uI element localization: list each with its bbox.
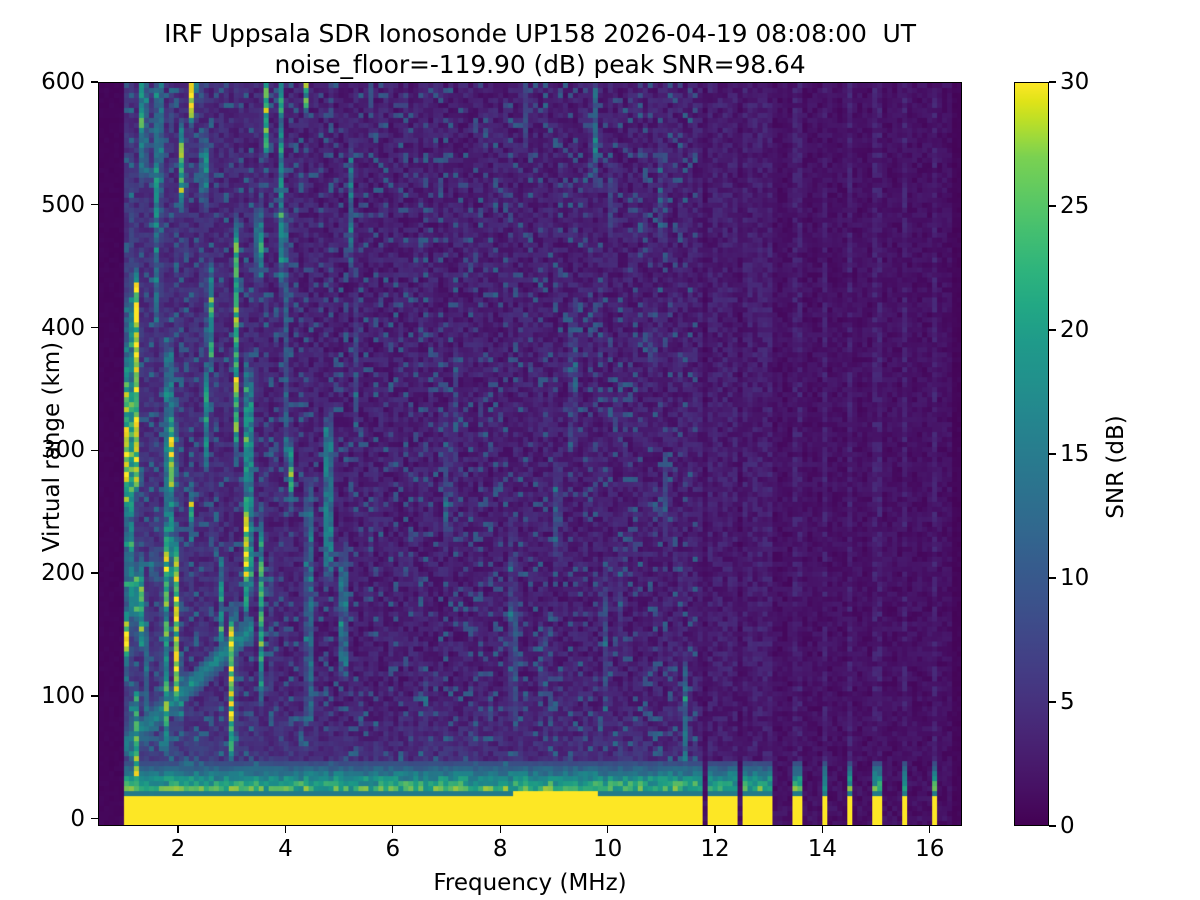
colorbar-tick-mark <box>1049 577 1056 578</box>
y-tick-label: 300 <box>41 437 85 463</box>
x-tick-label: 4 <box>278 836 293 862</box>
y-tick-mark <box>91 204 98 205</box>
colorbar-viridis <box>1014 82 1049 826</box>
colorbar-tick-label: 30 <box>1060 69 1089 95</box>
colorbar-tick-label: 20 <box>1060 317 1089 343</box>
colorbar-tick-label: 0 <box>1060 813 1075 839</box>
title-line-1: IRF Uppsala SDR Ionosonde UP158 2026-04-… <box>0 18 1080 49</box>
ionogram-heatmap <box>99 83 961 825</box>
title-line-2: noise_floor=-119.90 (dB) peak SNR=98.64 <box>0 49 1080 80</box>
x-tick-mark <box>500 826 501 833</box>
colorbar-tick-label: 25 <box>1060 193 1089 219</box>
y-tick-label: 500 <box>41 192 85 218</box>
x-tick-mark <box>929 826 930 833</box>
colorbar-tick-label: 5 <box>1060 689 1075 715</box>
colorbar-tick-mark <box>1049 825 1056 826</box>
colorbar-tick-mark <box>1049 329 1056 330</box>
ionogram-plot-area[interactable] <box>98 82 962 826</box>
x-tick-mark <box>285 826 286 833</box>
x-tick-mark <box>822 826 823 833</box>
colorbar-tick-mark <box>1049 205 1056 206</box>
x-axis-label: Frequency (MHz) <box>98 870 962 896</box>
x-tick-label: 8 <box>493 836 508 862</box>
x-tick-label: 10 <box>593 836 622 862</box>
y-tick-mark <box>91 81 98 82</box>
ionogram-figure: IRF Uppsala SDR Ionosonde UP158 2026-04-… <box>0 0 1200 900</box>
y-tick-label: 100 <box>41 683 85 709</box>
x-tick-label: 2 <box>171 836 186 862</box>
y-tick-label: 400 <box>41 315 85 341</box>
y-tick-mark <box>91 450 98 451</box>
y-tick-label: 600 <box>41 69 85 95</box>
x-tick-mark <box>392 826 393 833</box>
x-tick-mark <box>607 826 608 833</box>
x-tick-mark <box>177 826 178 833</box>
colorbar-tick-mark <box>1049 81 1056 82</box>
colorbar-label: SNR (dB) <box>1103 95 1129 839</box>
y-tick-label: 0 <box>70 806 85 832</box>
x-tick-label: 14 <box>808 836 837 862</box>
colorbar-tick-mark <box>1049 453 1056 454</box>
colorbar-tick-mark <box>1049 701 1056 702</box>
x-tick-label: 12 <box>700 836 729 862</box>
y-tick-mark <box>91 695 98 696</box>
x-tick-mark <box>714 826 715 833</box>
y-tick-label: 200 <box>41 560 85 586</box>
colorbar-tick-label: 10 <box>1060 565 1089 591</box>
colorbar-tick-label: 15 <box>1060 441 1089 467</box>
x-tick-label: 6 <box>385 836 400 862</box>
y-tick-mark <box>91 327 98 328</box>
figure-title: IRF Uppsala SDR Ionosonde UP158 2026-04-… <box>0 18 1080 80</box>
y-tick-mark <box>91 572 98 573</box>
y-tick-mark <box>91 818 98 819</box>
x-tick-label: 16 <box>915 836 944 862</box>
